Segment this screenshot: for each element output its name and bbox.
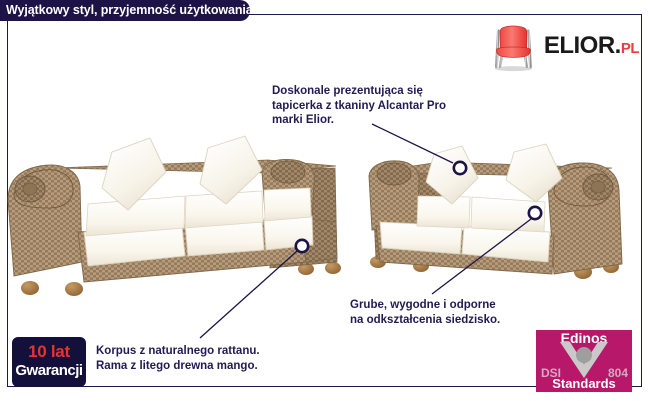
logo-tld: PL	[621, 40, 639, 57]
edinos-badge: Edinos DSI 804 Standards	[536, 330, 632, 392]
callout-line-frame	[200, 251, 297, 338]
callout-line-upholstery	[372, 124, 453, 163]
warranty-label: Gwarancji	[12, 362, 86, 380]
headline-banner: Wyjątkowy styl, przyjemność użytkowania!	[0, 0, 250, 21]
warranty-years: 10 lat	[12, 341, 86, 362]
edinos-standards: Standards	[536, 376, 632, 391]
warranty-badge: 10 lat Gwarancji	[12, 337, 86, 387]
brand-logo[interactable]: ELIOR.PL	[487, 18, 639, 74]
callout-line-seat	[432, 219, 531, 294]
callout-seat	[529, 207, 541, 219]
annotation-upholstery: Doskonale prezentująca się tapicerka z t…	[272, 84, 522, 128]
annotation-frame: Korpus z naturalnego rattanu. Rama z lit…	[96, 344, 326, 373]
callout-upholstery	[454, 162, 466, 174]
logo-wordmark: ELIOR.PL	[544, 34, 639, 58]
red-chair-icon	[487, 18, 540, 74]
callout-frame	[296, 240, 308, 252]
promo-banner-image: Wyjątkowy styl, przyjemność użytkowania!	[0, 0, 650, 401]
annotation-seat: Grube, wygodne i odporne na odkształceni…	[350, 298, 565, 327]
logo-brand: ELIOR	[544, 32, 615, 59]
edinos-v-icon	[558, 342, 610, 378]
